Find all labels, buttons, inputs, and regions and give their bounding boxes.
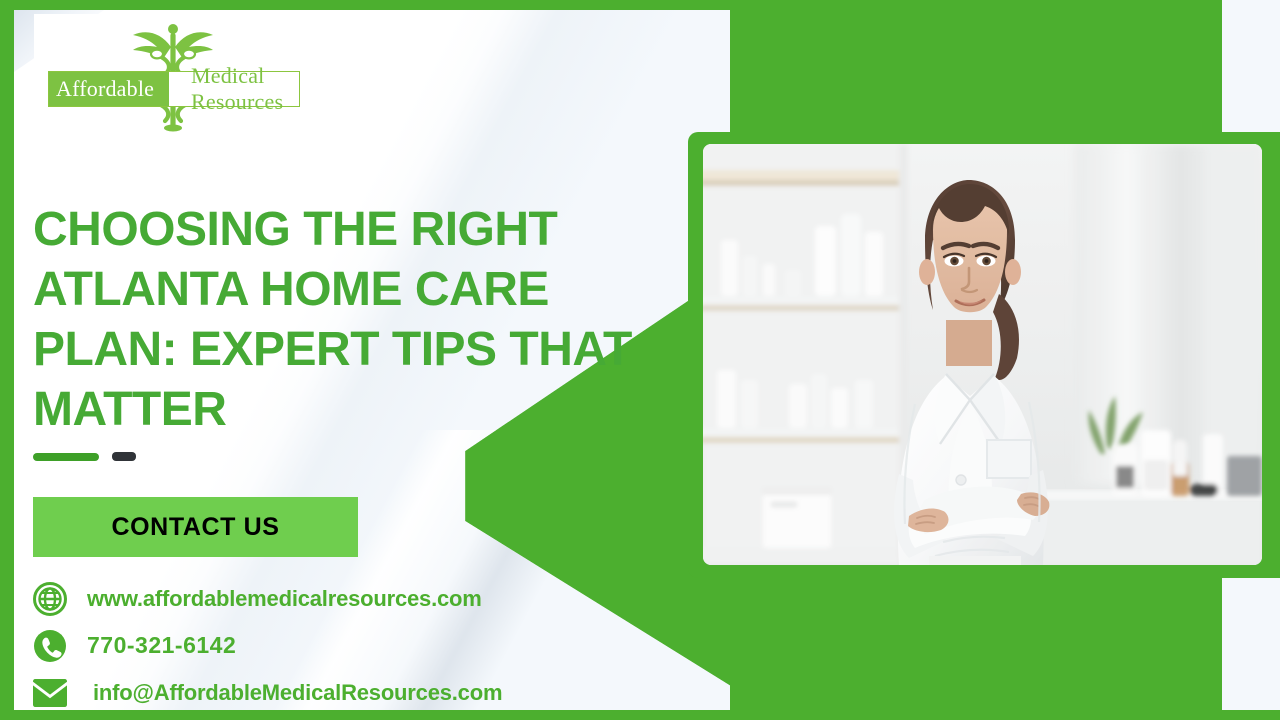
page-title: Choosing the Right Atlanta Home Care Pla… [33,200,683,440]
logo-word-medical-resources: Medical Resources [169,72,299,106]
promotional-banner: Affordable Medical Resources Choosing th… [0,0,1280,720]
website-text: www.affordablemedicalresources.com [87,586,482,612]
contact-us-button[interactable]: CONTACT US [33,497,358,557]
contact-row-phone[interactable]: 770-321-6142 [31,622,651,669]
photo [703,144,1262,565]
clinic-portrait-illustration [703,144,1262,565]
logo[interactable]: Affordable Medical Resources [34,14,312,140]
contact-row-email[interactable]: info@AffordableMedicalResources.com [31,669,651,716]
globe-icon [31,580,69,618]
contact-row-website[interactable]: www.affordablemedicalresources.com [31,575,651,622]
envelope-icon [31,674,69,712]
bottom-green-bar [0,710,1280,720]
phone-icon [31,627,69,665]
divider-dash-green [33,453,99,461]
photo-frame [688,132,1280,578]
divider-dash-dark [112,452,136,461]
left-green-bar [0,0,14,720]
logo-wordmark: Affordable Medical Resources [48,71,300,107]
contact-list: www.affordablemedicalresources.com 770-3… [31,575,651,716]
divider [33,452,136,461]
logo-word-affordable: Affordable [49,72,169,106]
phone-text: 770-321-6142 [87,632,236,659]
email-text: info@AffordableMedicalResources.com [93,680,502,706]
logo-inner: Affordable Medical Resources [42,19,304,135]
